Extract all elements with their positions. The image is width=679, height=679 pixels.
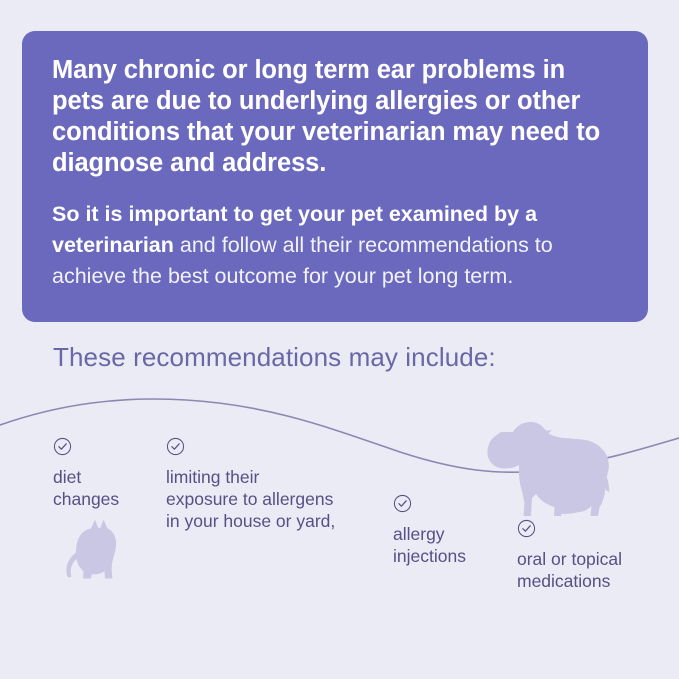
recommendation-label: diet changes <box>53 466 163 510</box>
check-circle-icon <box>53 437 72 456</box>
callout-body: So it is important to get your pet exami… <box>52 179 618 292</box>
recommendation-item: limiting their exposure to allergens in … <box>166 437 366 532</box>
section-heading: These recommendations may include: <box>53 341 496 373</box>
recommendation-label: limiting their exposure to allergens in … <box>166 466 366 532</box>
infographic-canvas: Many chronic or long term ear problems i… <box>0 0 679 679</box>
callout-heading: Many chronic or long term ear problems i… <box>52 55 618 179</box>
recommendation-label: oral or topical medications <box>517 548 679 592</box>
check-circle-icon <box>393 494 412 513</box>
recommendation-item: oral or topical medications <box>517 519 679 592</box>
cat-silhouette-icon <box>62 514 126 582</box>
recommendation-item: diet changes <box>53 437 163 510</box>
check-circle-icon <box>166 437 185 456</box>
check-circle-icon <box>517 519 536 538</box>
callout-card: Many chronic or long term ear problems i… <box>22 31 648 322</box>
